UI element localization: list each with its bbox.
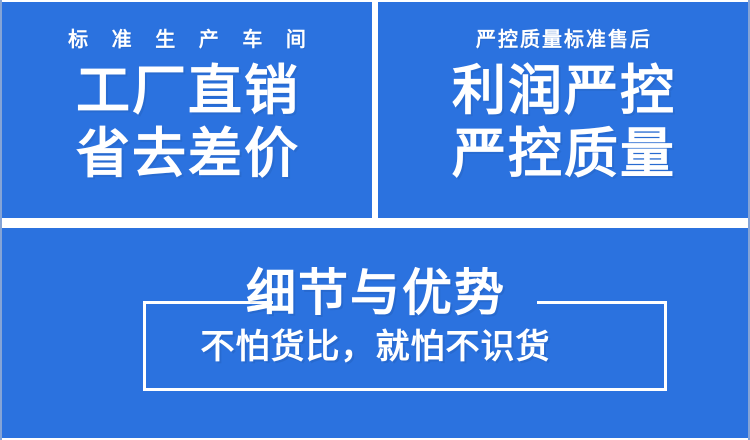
- panel-factory-direct-eyebrow: 标 准 生 产 车 间: [59, 30, 315, 50]
- panel-details-advantages-subtitle: 不怕货比，就怕不识货: [2, 330, 748, 364]
- promo-banner: 标 准 生 产 车 间 工厂直销 省去差价 严控质量标准售后 利润严控 严控质量…: [0, 0, 750, 440]
- panel-factory-direct: 标 准 生 产 车 间 工厂直销 省去差价: [2, 2, 372, 218]
- panel-quality-control-eyebrow: 严控质量标准售后: [474, 30, 652, 50]
- panel-details-advantages: 细节与优势 不怕货比，就怕不识货: [2, 228, 748, 438]
- panel-quality-control-content: 严控质量标准售后 利润严控 严控质量: [378, 2, 748, 218]
- panel-factory-direct-headline-2: 省去差价: [74, 126, 300, 183]
- panel-factory-direct-headline-1: 工厂直销: [74, 63, 300, 120]
- panel-quality-control: 严控质量标准售后 利润严控 严控质量: [378, 2, 748, 218]
- panel-quality-control-headline-1: 利润严控: [450, 63, 676, 120]
- panel-quality-control-headline-2: 严控质量: [450, 126, 676, 183]
- panel-details-advantages-title: 细节与优势: [2, 268, 748, 318]
- panel-factory-direct-content: 标 准 生 产 车 间 工厂直销 省去差价: [2, 2, 372, 218]
